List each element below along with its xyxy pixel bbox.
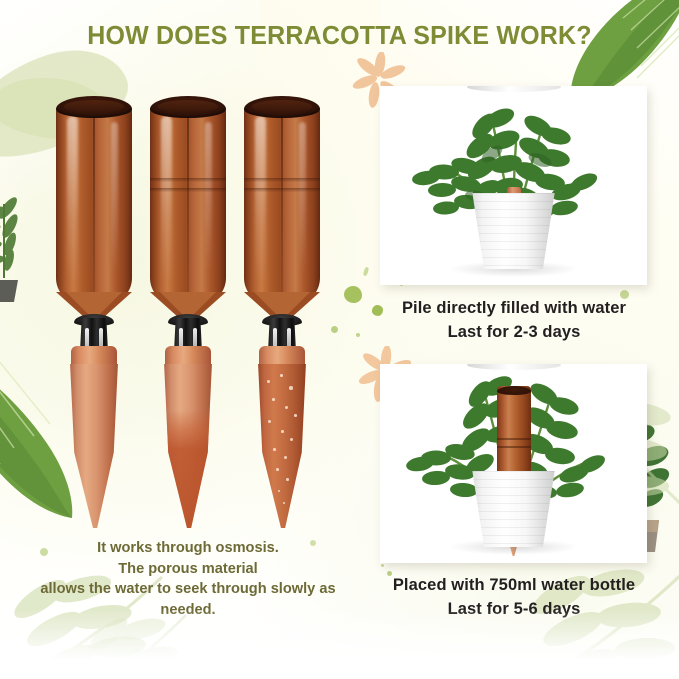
water-droplet xyxy=(283,502,285,504)
zz-plant-photo xyxy=(380,86,647,285)
water-droplet xyxy=(281,430,284,433)
terracotta-spike-dry xyxy=(56,96,132,318)
page-title: HOW DOES TERRACOTTA SPIKE WORK? xyxy=(7,22,672,51)
caption-top: Pile directly filled with water Last for… xyxy=(366,297,662,345)
bottle-highlight-secondary xyxy=(299,122,306,272)
inverted-water-bottle xyxy=(244,96,320,318)
paint-splatter xyxy=(344,286,362,303)
inverted-water-bottle xyxy=(56,96,132,318)
water-droplet xyxy=(284,456,287,459)
terracotta-spike-saturated xyxy=(244,96,320,318)
bottle-base-inner xyxy=(64,100,124,113)
water-droplet xyxy=(267,380,270,383)
water-droplet xyxy=(286,478,289,481)
zz-plant-with-bottle-photo xyxy=(380,364,647,563)
paint-splatter xyxy=(381,564,384,567)
terracotta-cone xyxy=(256,346,308,528)
water-droplet xyxy=(272,398,275,401)
bottle-base-ellipse xyxy=(150,96,226,118)
terracotta-spike-half-saturated xyxy=(150,96,226,318)
water-droplet xyxy=(268,420,271,423)
inverted-water-bottle xyxy=(150,96,226,318)
water-droplet xyxy=(290,438,293,441)
water-droplet xyxy=(280,374,283,377)
osmosis-line-2: The porous material xyxy=(14,559,362,580)
bottle-seam xyxy=(187,110,189,300)
bottle-ring xyxy=(150,188,226,192)
bottle-ring xyxy=(244,178,320,182)
cone-body-half-saturated xyxy=(162,364,214,528)
bottle-highlight-secondary xyxy=(205,122,212,272)
caption-top-line-2: Last for 2-3 days xyxy=(366,321,662,345)
background-fade-bottom xyxy=(0,609,679,679)
infographic-canvas: HOW DOES TERRACOTTA SPIKE WORK? xyxy=(0,0,679,679)
bottle-highlight xyxy=(67,116,78,286)
paint-splatter xyxy=(331,326,338,333)
bottle-base-inner xyxy=(158,100,218,113)
photo-card-plant-with-spike xyxy=(380,86,647,285)
mini-bottle-ring xyxy=(497,446,531,448)
bottle-highlight xyxy=(255,116,266,286)
bottle-highlight xyxy=(161,116,172,286)
bottle-seam xyxy=(93,110,95,300)
bottle-ring xyxy=(244,188,320,192)
water-droplet xyxy=(294,414,297,417)
potted-plant-icon-left xyxy=(0,196,48,304)
water-droplet xyxy=(278,490,280,492)
terracotta-cone xyxy=(68,346,120,528)
water-droplet xyxy=(285,406,288,409)
bottle-base-ellipse xyxy=(56,96,132,118)
cone-body-dry xyxy=(68,364,120,528)
terracotta-cone xyxy=(162,346,214,528)
bottle-ring xyxy=(150,178,226,182)
water-droplet xyxy=(289,386,293,390)
caption-top-line-1: Pile directly filled with water xyxy=(366,297,662,321)
mini-bottle-base xyxy=(497,386,531,395)
cone-body-saturated xyxy=(256,364,308,528)
bottle-seam xyxy=(281,110,283,300)
bottle-base-ellipse xyxy=(244,96,320,118)
water-droplet xyxy=(273,448,276,451)
mini-bottle-ring xyxy=(497,438,531,440)
paint-splatter xyxy=(356,333,360,337)
water-droplet xyxy=(276,468,279,471)
osmosis-line-3: allows the water to seek through slowly … xyxy=(14,579,362,600)
photo-card-plant-with-bottle xyxy=(380,364,647,563)
bottle-highlight-secondary xyxy=(111,122,118,272)
caption-bottom-line-1: Placed with 750ml water bottle xyxy=(366,574,662,598)
osmosis-line-1: It works through osmosis. xyxy=(14,538,362,559)
bottle-base-inner xyxy=(252,100,312,113)
